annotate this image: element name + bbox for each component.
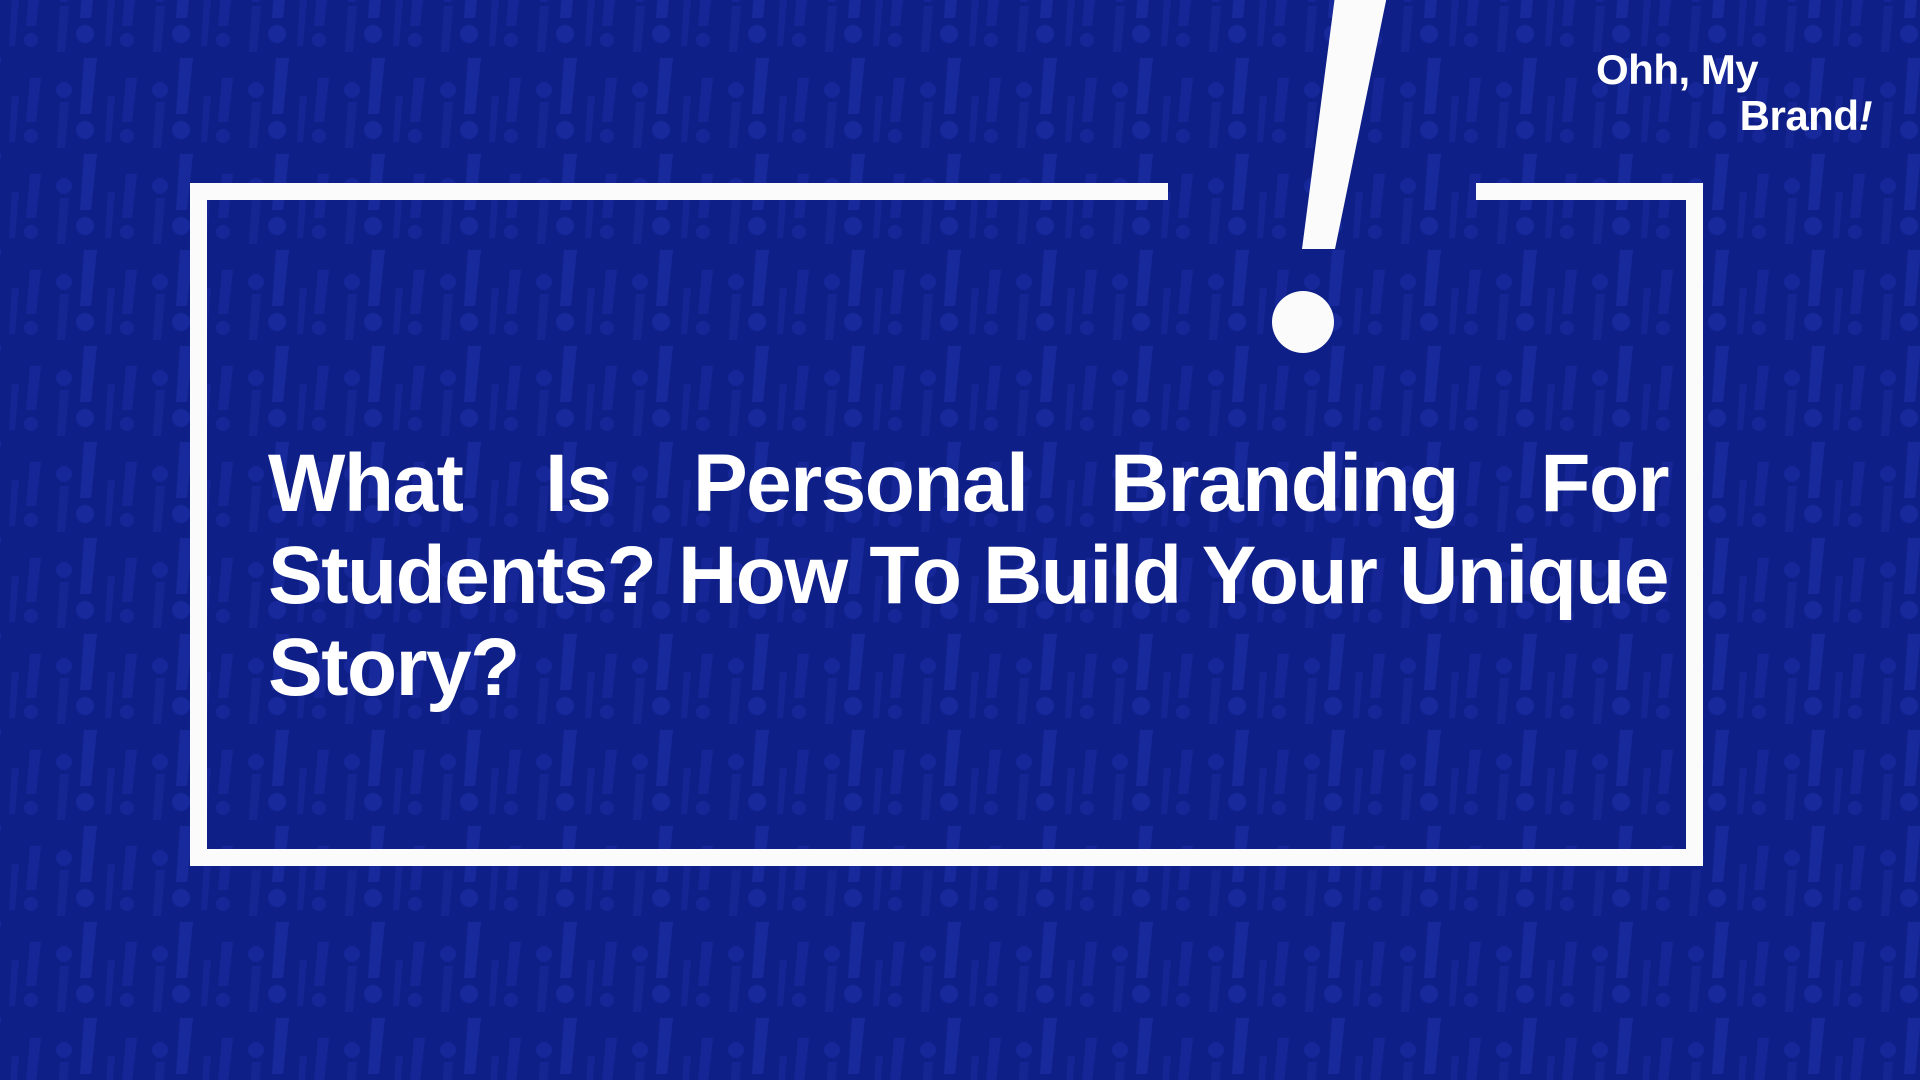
frame-border-top-left (190, 183, 1168, 200)
logo-line-two: Brand! (1596, 93, 1876, 139)
frame-border-top-right (1476, 183, 1703, 200)
frame-border-right (1686, 183, 1703, 866)
slide-headline: What Is Personal Branding For Students? … (268, 438, 1668, 806)
frame-border-left (190, 183, 207, 866)
frame-border-bottom (190, 849, 1703, 866)
logo-word-brand: Brand (1740, 92, 1859, 139)
logo-exclamation-icon: ! (1859, 92, 1873, 139)
title-slide: Ohh, My Brand! What Is Personal Branding… (0, 0, 1920, 1080)
logo-line-one: Ohh, My (1596, 47, 1876, 93)
brand-logo[interactable]: Ohh, My Brand! (1596, 47, 1876, 139)
exclamation-dot-icon (1272, 291, 1334, 353)
exclamation-bar-icon (1290, 0, 1400, 296)
